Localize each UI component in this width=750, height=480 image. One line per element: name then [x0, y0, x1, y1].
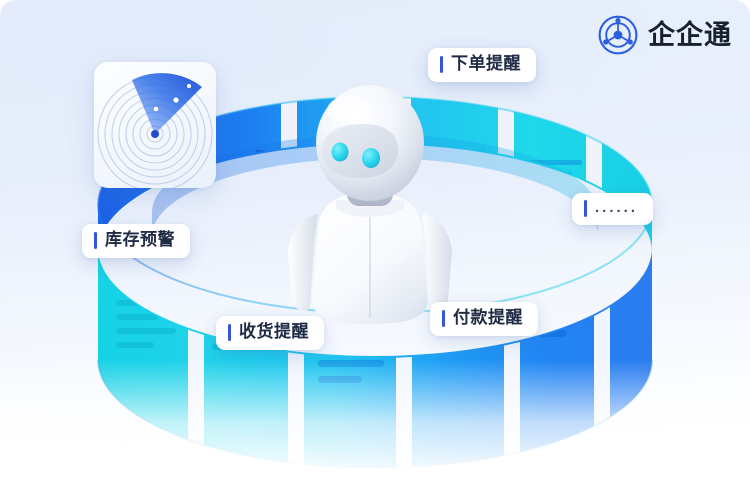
- accent-bar-icon: [442, 310, 445, 327]
- radar-card: [94, 62, 216, 188]
- label-more[interactable]: ......: [572, 193, 653, 225]
- label-text: 下单提醒: [451, 55, 521, 74]
- label-inventory-alert[interactable]: 库存预警: [82, 224, 190, 258]
- radar-blip: [173, 97, 178, 102]
- radar-sweep-icon: [94, 62, 216, 188]
- label-text: 库存预警: [105, 231, 175, 250]
- ring-front-band: [98, 248, 652, 480]
- label-order-reminder[interactable]: 下单提醒: [428, 48, 536, 82]
- label-text: ......: [595, 200, 638, 217]
- radar-blip: [154, 107, 159, 112]
- accent-bar-icon: [228, 324, 231, 341]
- illustration-canvas: 下单提醒 库存预警 收货提醒 付款提醒 ...... 企企通: [0, 0, 750, 480]
- accent-bar-icon: [94, 232, 97, 249]
- label-text: 收货提醒: [239, 323, 309, 342]
- radar-blip: [187, 84, 191, 88]
- brand-logo[interactable]: 企企通: [597, 14, 732, 56]
- accent-bar-icon: [584, 200, 587, 217]
- label-text: 付款提醒: [453, 309, 523, 328]
- label-payment-reminder[interactable]: 付款提醒: [430, 302, 538, 336]
- radar-center-dot: [151, 130, 159, 138]
- label-receipt-reminder[interactable]: 收货提醒: [216, 316, 324, 350]
- accent-bar-icon: [440, 56, 443, 73]
- circular-trefoil-emblem-icon: [597, 14, 639, 56]
- brand-name: 企企通: [648, 22, 732, 49]
